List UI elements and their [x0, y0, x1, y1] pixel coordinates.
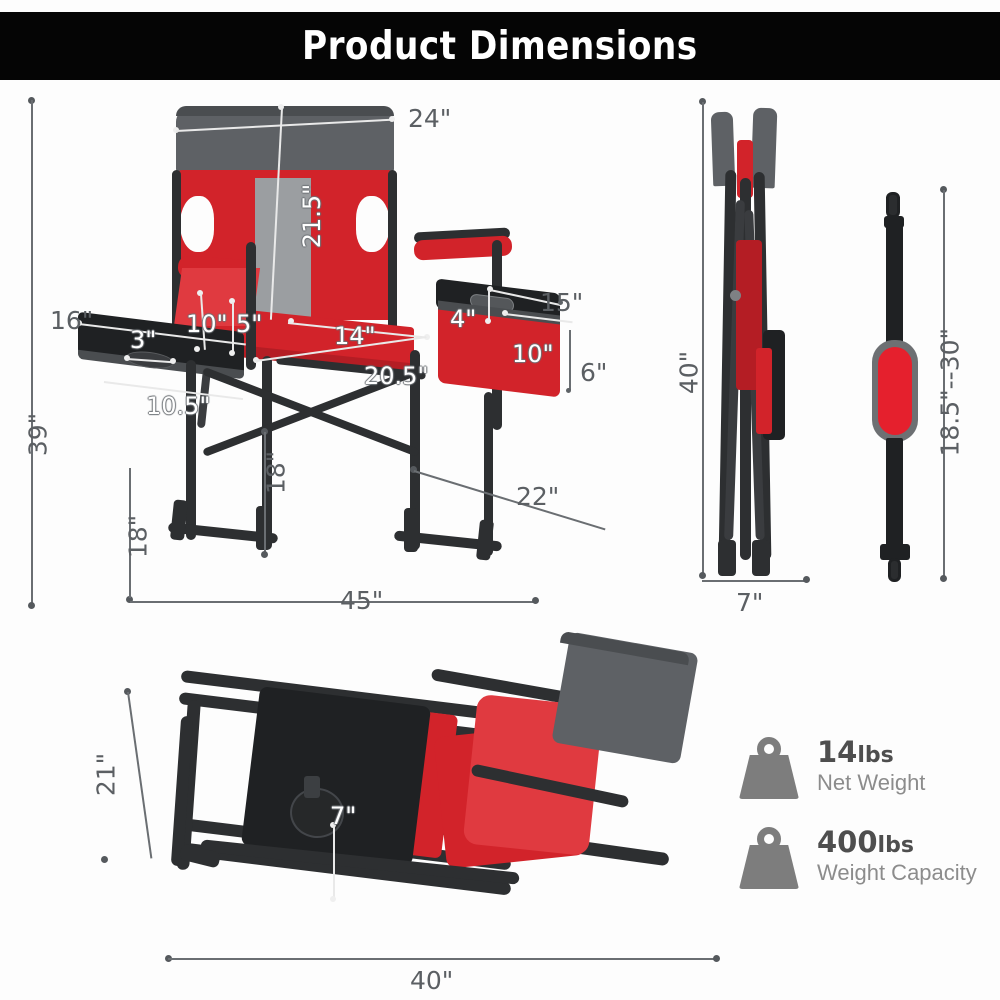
dim-line-flat-cupholder — [333, 826, 335, 898]
dim-flat-depth: 21" — [92, 747, 121, 803]
spec-row-weight-capacity: 400lbs Weight Capacity — [735, 825, 985, 889]
dim-line-overall-depth — [414, 470, 606, 530]
dim-line-flat-depth — [127, 692, 152, 859]
dim-line-cooler-height — [569, 330, 571, 390]
dim-strap-length: 18.5"--30" — [936, 329, 965, 457]
dim-dot — [940, 575, 947, 582]
chair-armrest-tube-left — [246, 242, 256, 370]
strap-hook-bottom — [888, 558, 901, 582]
folded-foot-right — [752, 540, 770, 576]
dim-dot — [330, 896, 336, 902]
flat-side-table — [241, 686, 431, 866]
dim-front-leg-height: 18" — [124, 509, 153, 565]
chair-foot-mid-right — [404, 508, 418, 552]
dim-dot — [532, 597, 539, 604]
folded-rivet — [730, 290, 741, 301]
dim-dot — [261, 551, 268, 558]
infographic-canvas: Product Dimensions — [0, 0, 1000, 1000]
dim-line-folded-height — [702, 102, 704, 575]
dim-flat-length: 40" — [410, 966, 453, 995]
dim-line-overall-height — [31, 100, 33, 605]
strap-webbing-top — [886, 226, 903, 346]
dim-cooler-height: 6" — [580, 358, 607, 387]
dim-dot — [389, 116, 395, 122]
dim-dot — [28, 602, 35, 609]
dim-line-flat-length — [168, 958, 716, 960]
chair-canopy-hem — [176, 106, 394, 116]
dim-dot — [194, 346, 200, 352]
dim-line-folded-thickness — [702, 580, 806, 582]
page-title: Product Dimensions — [302, 24, 698, 69]
weight-icon-body — [739, 755, 799, 799]
dim-canopy-width: 24" — [408, 104, 451, 133]
dim-overall-height: 39" — [24, 405, 53, 465]
dim-dot — [713, 955, 720, 962]
chair-foot-mid-left — [256, 506, 270, 550]
folded-cooler-fabric — [756, 348, 772, 434]
dim-line-armrest-b — [232, 302, 234, 352]
spec-value-row: 400lbs — [817, 827, 977, 857]
backrest-left-cutout — [180, 196, 214, 252]
spec-label: Net Weight — [817, 769, 925, 797]
dim-line-cooler-lid — [488, 290, 490, 320]
spec-unit: lbs — [857, 743, 893, 768]
backrest-right-cutout — [356, 196, 390, 252]
strap-hook-top — [886, 192, 900, 218]
dim-dot — [558, 300, 563, 305]
folded-foot-left — [718, 540, 736, 576]
chair-mesh-panel — [255, 178, 311, 320]
dim-dot — [101, 856, 108, 863]
spec-value-row: 14lbs — [817, 737, 925, 767]
dim-dot — [803, 576, 810, 583]
specs-block: 14lbs Net Weight 400lbs Weight Capacity — [735, 735, 985, 915]
flat-table-slot — [304, 776, 320, 798]
header-bar: Product Dimensions — [0, 12, 1000, 80]
dim-dot — [485, 318, 491, 324]
strap-webbing-bottom — [886, 438, 903, 550]
dim-line-front-leg — [129, 468, 131, 598]
spec-value: 400 — [817, 825, 878, 859]
dim-dot — [170, 358, 176, 364]
dim-line-table-width — [104, 381, 243, 400]
dim-dot — [566, 388, 571, 393]
dim-overall-depth: 22" — [516, 482, 559, 511]
dim-line-seat-height — [264, 432, 266, 554]
spec-text: 400lbs Weight Capacity — [817, 827, 977, 887]
strap-pad-cushion — [878, 347, 912, 435]
dim-folded-height: 40" — [675, 343, 704, 403]
spec-value: 14 — [817, 735, 857, 769]
weight-icon — [735, 735, 803, 799]
spec-label: Weight Capacity — [817, 859, 977, 887]
chair-front-leg-left — [186, 360, 196, 540]
chair-canopy-panel — [176, 108, 394, 172]
dim-folded-thickness: 7" — [736, 588, 763, 617]
dim-dot — [699, 572, 706, 579]
weight-icon-body — [739, 845, 799, 889]
spec-unit: lbs — [878, 833, 914, 858]
chair-back-post-right — [388, 170, 397, 345]
dim-line-overall-width — [130, 601, 536, 603]
spec-row-net-weight: 14lbs Net Weight — [735, 735, 985, 799]
spec-text: 14lbs Net Weight — [817, 737, 925, 797]
dim-dot — [229, 350, 235, 356]
dim-line-strap-length — [943, 190, 945, 578]
weight-icon — [735, 825, 803, 889]
